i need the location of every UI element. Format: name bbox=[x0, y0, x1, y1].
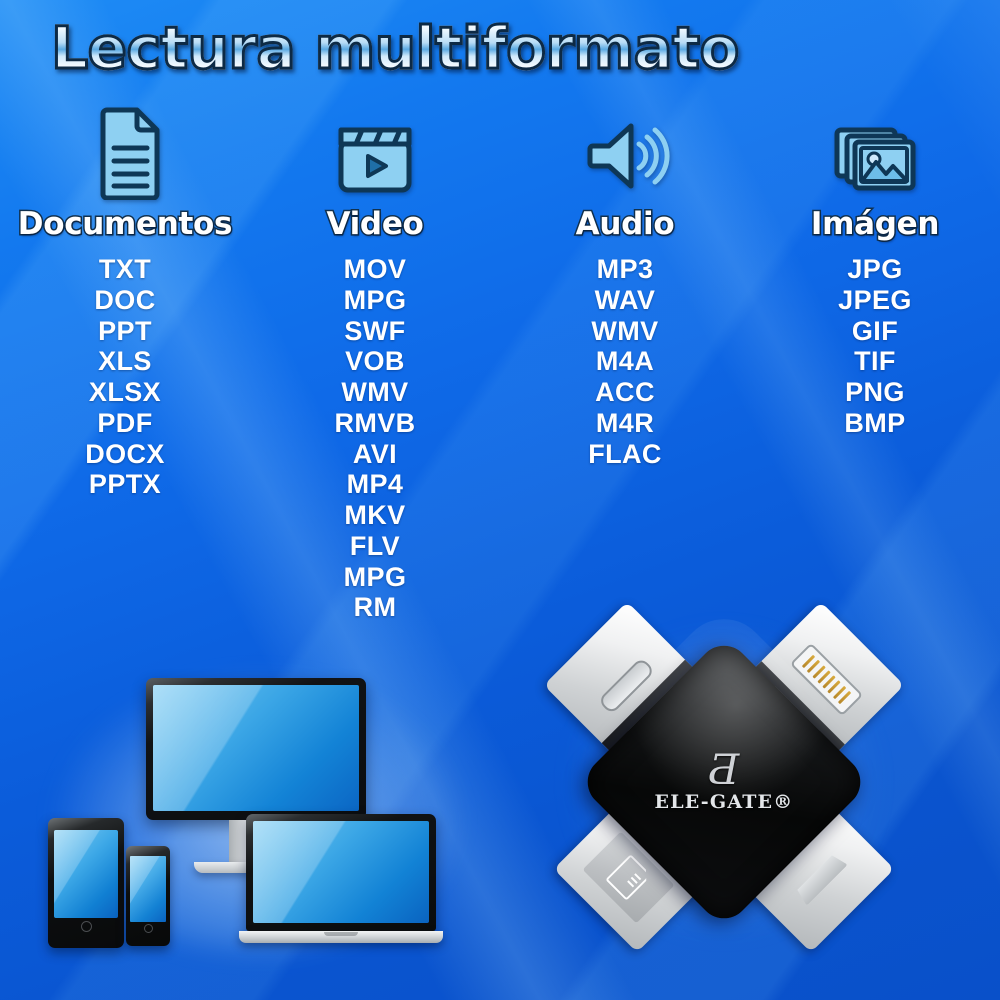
format-item: JPEG bbox=[838, 285, 912, 316]
tablet-bezel bbox=[48, 818, 124, 948]
format-item: ACC bbox=[588, 377, 662, 408]
category-audio: Audio MP3 WAV WMV M4A ACC M4R FLAC bbox=[500, 104, 750, 639]
speaker-icon bbox=[577, 104, 673, 200]
brand-logo-glyph: Ƌ bbox=[629, 751, 819, 789]
format-item: FLAC bbox=[588, 439, 662, 470]
brand-block: Ƌ ELE-GATE® bbox=[629, 751, 819, 813]
format-item: TIF bbox=[838, 346, 912, 377]
format-categories: Documentos TXT DOC PPT XLS XLSX PDF DOCX… bbox=[0, 104, 1000, 639]
laptop bbox=[246, 814, 436, 943]
screen-gloss bbox=[153, 685, 359, 811]
laptop-trackpad-notch bbox=[324, 932, 358, 936]
format-item: RM bbox=[334, 592, 415, 623]
monitor-bezel bbox=[146, 678, 366, 820]
format-item: VOB bbox=[334, 346, 415, 377]
page-title: Lectura multiformato bbox=[51, 14, 739, 82]
format-item: MP3 bbox=[588, 254, 662, 285]
format-item: M4A bbox=[588, 346, 662, 377]
format-item: AVI bbox=[334, 439, 415, 470]
product-adapter: Ƌ ELE-GATE® bbox=[528, 586, 920, 978]
category-imagen: Imágen JPG JPEG GIF TIF PNG BMP bbox=[750, 104, 1000, 639]
laptop-bezel bbox=[246, 814, 436, 931]
format-item: MPG bbox=[334, 285, 415, 316]
page-title-wrapper: Lectura multiformato bbox=[0, 14, 790, 82]
format-item: SWF bbox=[334, 316, 415, 347]
screen-gloss bbox=[253, 821, 429, 923]
format-list-video: MOV MPG SWF VOB WMV RMVB AVI MP4 MKV FLV… bbox=[334, 254, 415, 623]
category-video: Video MOV MPG SWF VOB WMV RMVB AVI MP4 M… bbox=[250, 104, 500, 639]
format-item: RMVB bbox=[334, 408, 415, 439]
format-item: DOCX bbox=[85, 439, 165, 470]
laptop-keyboard bbox=[239, 931, 443, 943]
format-item: XLS bbox=[85, 346, 165, 377]
format-item: MPG bbox=[334, 562, 415, 593]
format-item: FLV bbox=[334, 531, 415, 562]
laptop-screen bbox=[253, 821, 429, 923]
photo-stack-icon bbox=[827, 104, 923, 200]
format-item: M4R bbox=[588, 408, 662, 439]
tablet bbox=[48, 818, 124, 948]
format-item: PPT bbox=[85, 316, 165, 347]
screen-gloss bbox=[130, 856, 166, 922]
format-item: WAV bbox=[588, 285, 662, 316]
format-item: BMP bbox=[838, 408, 912, 439]
tablet-home-button bbox=[81, 921, 92, 932]
phone-bezel bbox=[126, 846, 170, 946]
category-heading: Video bbox=[326, 206, 423, 242]
format-item: TXT bbox=[85, 254, 165, 285]
format-item: GIF bbox=[838, 316, 912, 347]
category-heading: Imágen bbox=[811, 206, 939, 242]
adapter-body-rotated: Ƌ ELE-GATE® bbox=[512, 570, 936, 994]
phone-screen bbox=[130, 856, 166, 922]
brand-name: ELE-GATE® bbox=[629, 791, 819, 813]
format-item: PPTX bbox=[85, 469, 165, 500]
format-item: PDF bbox=[85, 408, 165, 439]
format-item: DOC bbox=[85, 285, 165, 316]
format-item: WMV bbox=[588, 316, 662, 347]
format-list-audio: MP3 WAV WMV M4A ACC M4R FLAC bbox=[588, 254, 662, 469]
category-heading: Documentos bbox=[18, 206, 232, 242]
category-documentos: Documentos TXT DOC PPT XLS XLSX PDF DOCX… bbox=[0, 104, 250, 639]
document-icon bbox=[83, 104, 167, 200]
tablet-screen bbox=[54, 830, 118, 918]
format-item: PNG bbox=[838, 377, 912, 408]
format-item: JPG bbox=[838, 254, 912, 285]
phone-home-button bbox=[144, 924, 153, 933]
clapperboard-icon bbox=[329, 104, 421, 200]
monitor-screen bbox=[153, 685, 359, 811]
screen-gloss bbox=[54, 830, 118, 918]
promo-banner: Lectura multiformato Documentos bbox=[0, 0, 1000, 1000]
format-item: WMV bbox=[334, 377, 415, 408]
format-list-documentos: TXT DOC PPT XLS XLSX PDF DOCX PPTX bbox=[85, 254, 165, 500]
category-heading: Audio bbox=[576, 206, 675, 242]
smartphone bbox=[126, 846, 170, 946]
format-list-imagen: JPG JPEG GIF TIF PNG BMP bbox=[838, 254, 912, 439]
format-item: MKV bbox=[334, 500, 415, 531]
format-item: XLSX bbox=[85, 377, 165, 408]
device-cluster bbox=[42, 662, 472, 962]
format-item: MP4 bbox=[334, 469, 415, 500]
format-item: MOV bbox=[334, 254, 415, 285]
